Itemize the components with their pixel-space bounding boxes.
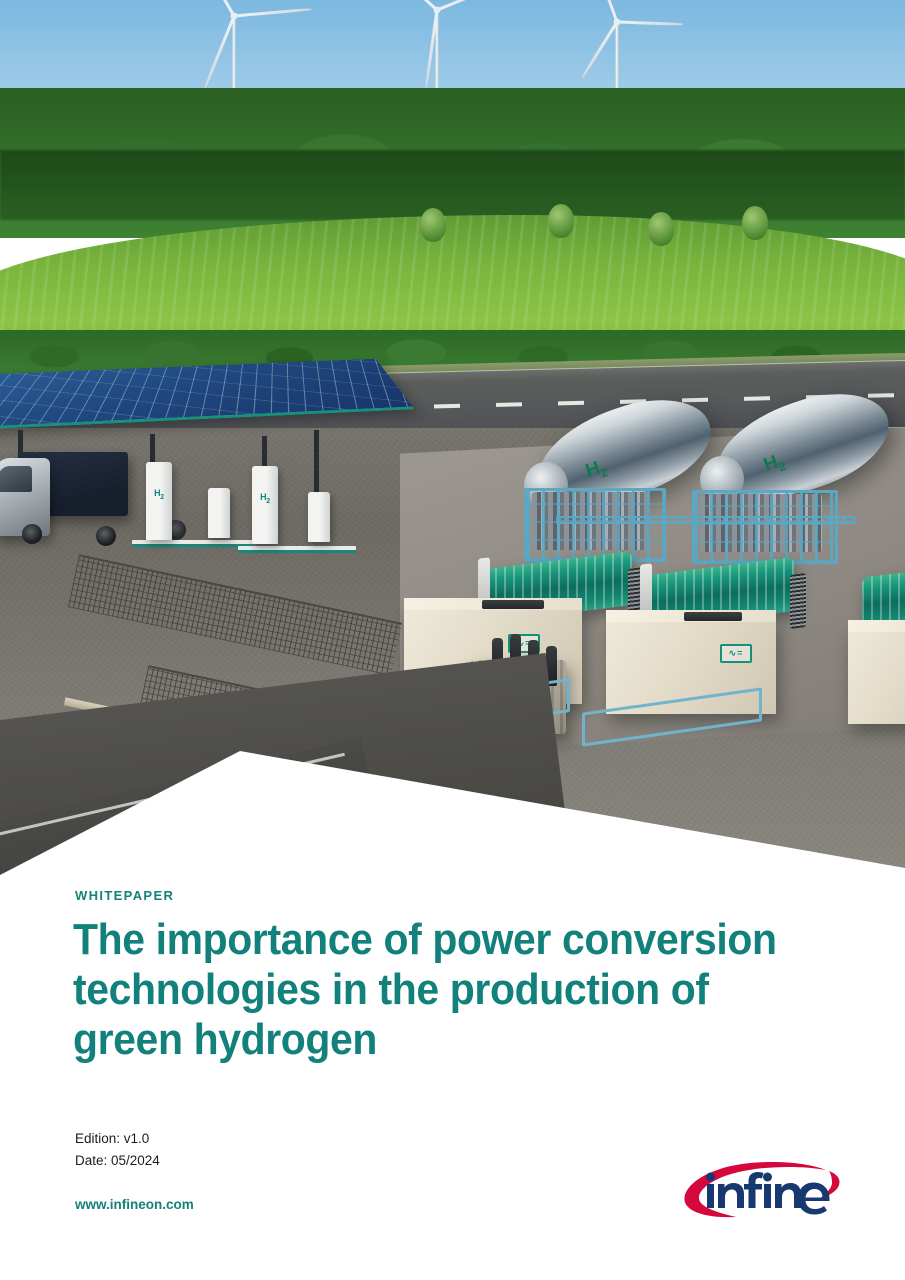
forest-shadow	[0, 150, 905, 220]
meadow-tree	[742, 206, 768, 240]
tank-h2-label: H2	[583, 456, 609, 485]
turbine-hub	[230, 13, 237, 20]
website-link[interactable]: www.infineon.com	[75, 1197, 194, 1212]
h2-dispenser-housing	[208, 488, 230, 538]
document-metadata: Edition: v1.0 Date: 05/2024	[75, 1128, 160, 1172]
power-conversion-cabinet	[848, 628, 905, 724]
cabinet-vent	[482, 600, 544, 609]
turbine-hub	[613, 19, 620, 26]
tank-h2-label: H2	[761, 450, 787, 479]
whitepaper-cover-page: H2 H2 H2 H2 ∿=	[0, 0, 905, 1280]
edition-line: Edition: v1.0	[75, 1128, 160, 1150]
truck-wheel	[22, 524, 42, 544]
truck-windshield	[0, 466, 32, 492]
pipe-frame	[524, 488, 666, 562]
dispenser-island	[132, 540, 252, 547]
infineon-logo	[676, 1158, 841, 1220]
h2-dispenser: H2	[146, 462, 172, 540]
page-title: The importance of power conversion techn…	[73, 915, 780, 1065]
cabinet-vent	[684, 612, 742, 621]
hero-image: H2 H2 H2 H2 ∿=	[0, 0, 905, 880]
logo-wordmark	[706, 1172, 830, 1215]
h2-dispenser-housing	[308, 492, 330, 542]
truck-wheel	[96, 526, 116, 546]
date-line: Date: 05/2024	[75, 1150, 160, 1172]
electrolyser-end-grille	[790, 573, 806, 629]
document-type-label: WHITEPAPER	[75, 888, 174, 903]
cabinet-roof	[848, 620, 905, 632]
dispenser-island	[238, 546, 356, 553]
h2-dispenser: H2	[252, 466, 278, 544]
pipe-frame	[692, 490, 838, 564]
meadow-tree	[648, 212, 674, 246]
infineon-logo-svg	[676, 1158, 841, 1220]
converter-icon: ∿=	[720, 644, 752, 663]
turbine-hub	[433, 7, 440, 14]
pipe-manifold	[556, 516, 856, 524]
meadow-tree	[420, 208, 446, 242]
dispenser-h2-label: H2	[146, 488, 172, 501]
meadow-tree	[548, 204, 574, 238]
dispenser-h2-label: H2	[252, 492, 278, 505]
